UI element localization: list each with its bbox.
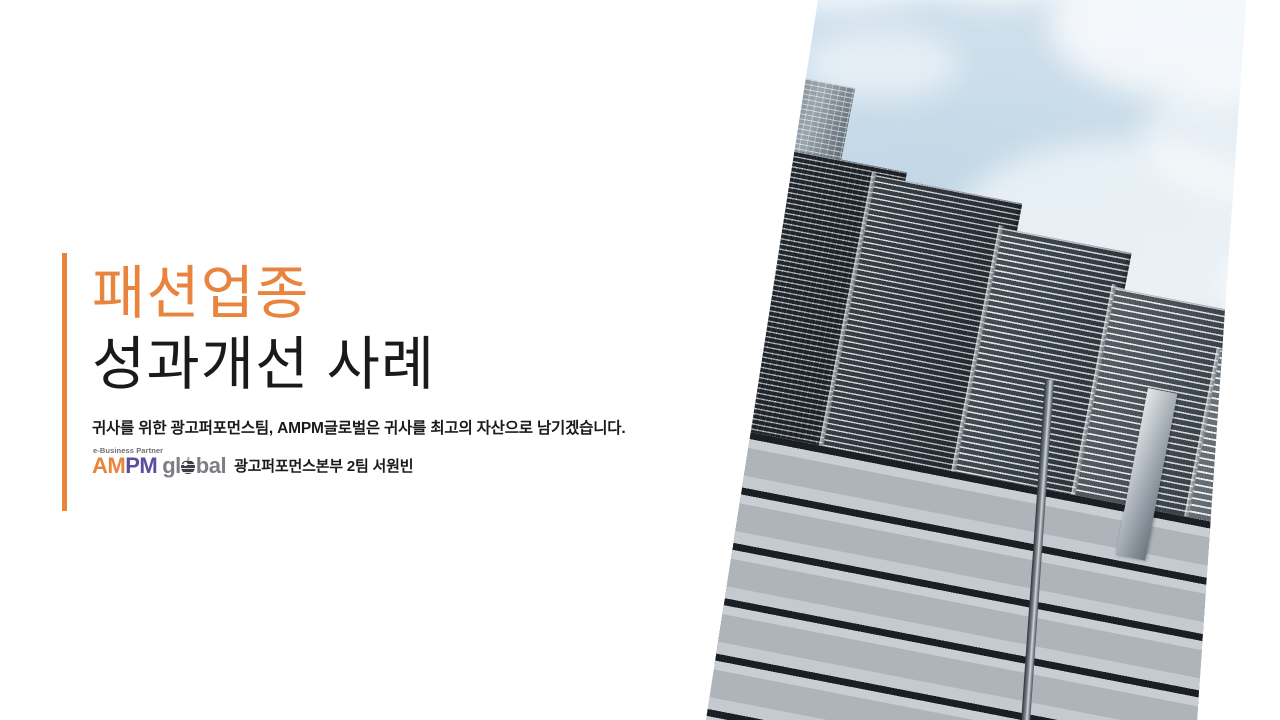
title-slide: 패션업종 성과개선 사례 귀사를 위한 광고퍼포먼스팀, AMPM글로벌은 귀사… bbox=[0, 0, 1280, 720]
cloud-shape bbox=[740, 0, 940, 10]
logo-text-pm: PM bbox=[125, 455, 157, 477]
logo-row: e-Business Partner AM PM gl bal 광고퍼포먼스본부… bbox=[92, 447, 692, 478]
title-text-block: 패션업종 성과개선 사례 귀사를 위한 광고퍼포먼스팀, AMPM글로벌은 귀사… bbox=[92, 262, 692, 477]
subtitle: 귀사를 위한 광고퍼포먼스팀, AMPM글로벌은 귀사를 최고의 자산으로 남기… bbox=[92, 416, 692, 438]
presenter-name: 광고퍼포먼스본부 2팀 서원빈 bbox=[234, 455, 413, 477]
accent-bar bbox=[62, 253, 67, 511]
logo-text-am: AM bbox=[92, 455, 125, 477]
globe-icon bbox=[181, 460, 195, 474]
skyscraper-photo bbox=[620, 0, 1280, 720]
logo-text-bal: bal bbox=[196, 455, 226, 477]
logo-text-gl: gl bbox=[162, 455, 181, 477]
page-title-line-1: 패션업종 bbox=[92, 262, 692, 327]
ampm-global-logo: e-Business Partner AM PM gl bal bbox=[92, 447, 226, 478]
cloud-shape bbox=[1050, 0, 1280, 100]
logo-wordmark: AM PM gl bal bbox=[92, 455, 226, 477]
page-title-line-2: 성과개선 사례 bbox=[92, 333, 692, 398]
